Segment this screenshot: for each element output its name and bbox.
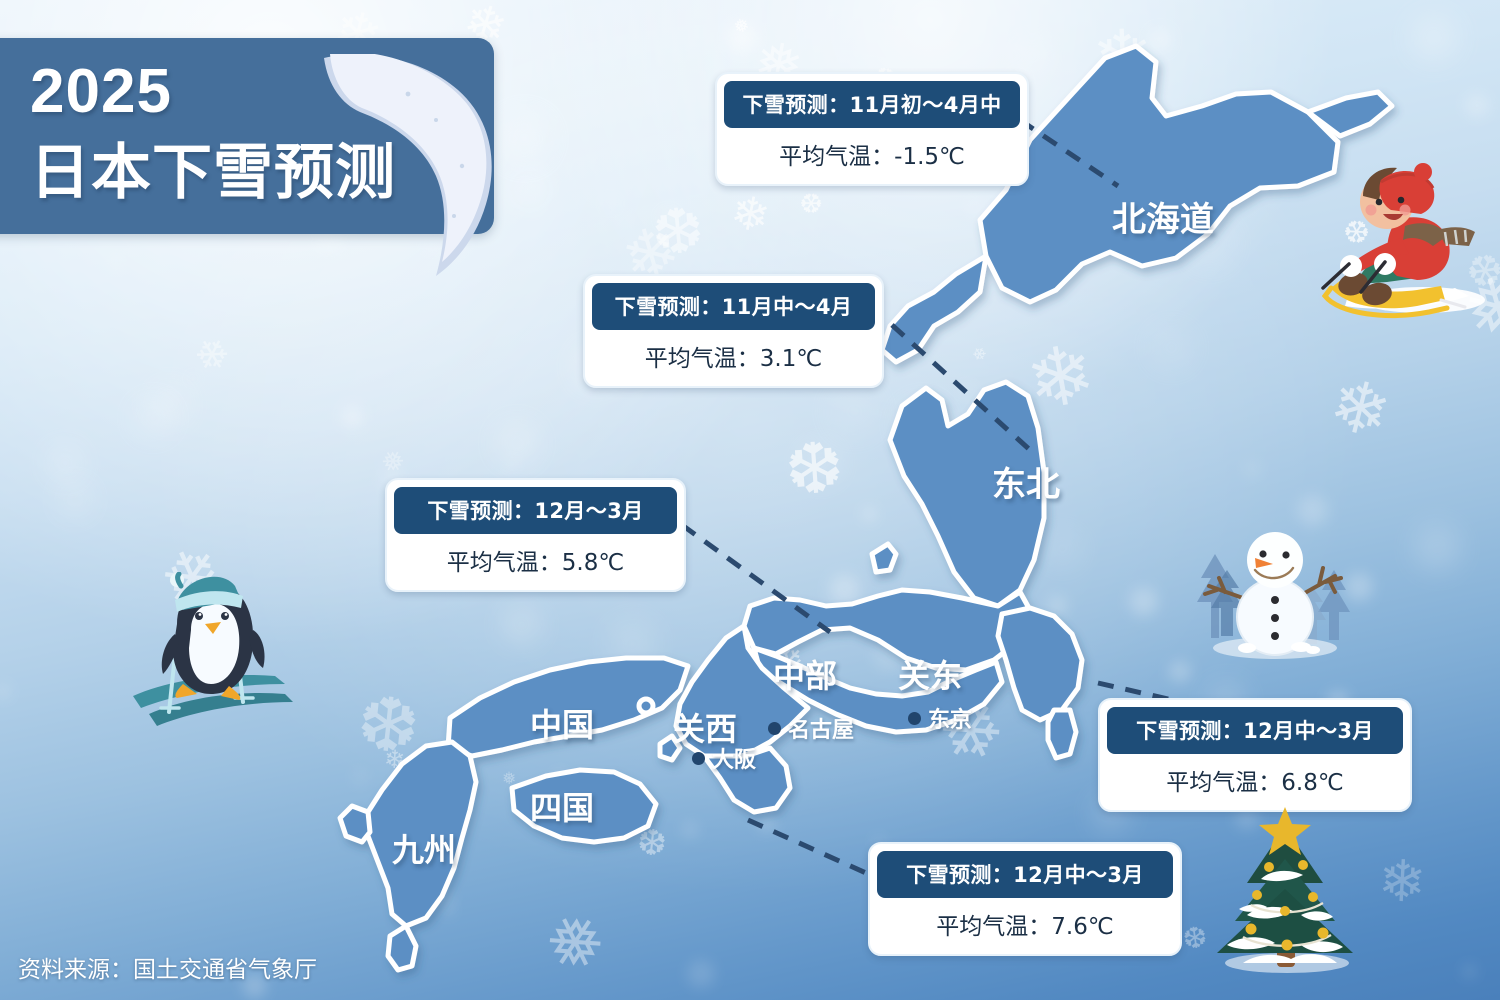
callout-tohoku[interactable]: 下雪预测：11月中～4月 平均气温：3.1℃	[583, 274, 884, 388]
city-osaka: 大阪	[692, 742, 756, 774]
bokeh-dot	[189, 374, 198, 383]
title-banner: 2025 日本下雪预测	[0, 38, 494, 234]
callout-tohoku-temperature: 平均气温：3.1℃	[592, 330, 875, 379]
callout-hokkaido-forecast: 下雪预测：11月初～4月中	[724, 81, 1020, 128]
region-label-tohoku: 东北	[992, 457, 1060, 506]
callout-kansai[interactable]: 下雪预测：12月中～3月 平均气温：7.6℃	[868, 842, 1182, 956]
region-label-kanto: 关东	[898, 651, 962, 697]
callout-hokkaido[interactable]: 下雪预测：11月初～4月中 平均气温：-1.5℃	[715, 72, 1029, 186]
city-label-tokyo: 东京	[928, 702, 972, 734]
bokeh-dot	[132, 397, 174, 439]
skiing-penguin-illustration	[125, 572, 300, 747]
callout-kanto-forecast: 下雪预测：12月中～3月	[1107, 707, 1403, 754]
callout-tohoku-forecast: 下雪预测：11月中～4月	[592, 283, 875, 330]
snowman-illustration	[1185, 520, 1365, 670]
map-region-hokkaido-west	[882, 256, 986, 362]
region-label-hokkaido: 北海道	[1112, 192, 1214, 241]
callout-kanto-temperature: 平均气温：6.8℃	[1107, 754, 1403, 803]
map-kyushu-south	[388, 926, 416, 970]
page-title: 日本下雪预测	[30, 124, 396, 211]
bokeh-dot	[687, 960, 715, 988]
city-tokyo: 东京	[908, 702, 972, 734]
map-island-oki	[639, 699, 653, 713]
map-kyushu-west	[340, 806, 370, 842]
region-label-shikoku: 四国	[530, 783, 594, 829]
city-dot-icon	[908, 712, 921, 725]
city-dot-icon	[692, 752, 705, 765]
callout-kansai-forecast: 下雪预测：12月中～3月	[877, 851, 1173, 898]
source-note: 资料来源：国土交通省气象厅	[18, 950, 317, 984]
city-nagoya: 名古屋	[768, 712, 854, 744]
map-island-sado	[872, 544, 896, 572]
region-label-chubu: 中部	[773, 651, 837, 697]
region-label-chugoku: 中国	[530, 700, 594, 746]
map-region-hokkaido	[980, 46, 1338, 302]
city-label-nagoya: 名古屋	[788, 712, 854, 744]
map-region-kanto	[998, 608, 1082, 720]
callout-hokkaido-temperature: 平均气温：-1.5℃	[724, 128, 1020, 177]
callout-kansai-temperature: 平均气温：7.6℃	[877, 898, 1173, 947]
callout-chubu[interactable]: 下雪预测：12月～3月 平均气温：5.8℃	[385, 478, 686, 592]
connector-kansai	[748, 820, 886, 882]
region-label-kyushu: 九州	[392, 825, 456, 871]
callout-chubu-forecast: 下雪预测：12月～3月	[394, 487, 677, 534]
infographic-root: ❆❆❅❄❆❅❅❄❄❅❄❆❆❆❆❄❅❆❄❄❄❄❄❄❄❄❆❄❆❄❆❆❄❅❅❄❆❆❄❆…	[0, 0, 1500, 1000]
city-label-osaka: 大阪	[712, 742, 756, 774]
callout-kanto[interactable]: 下雪预测：12月中～3月 平均气温：6.8℃	[1098, 698, 1412, 812]
callout-chubu-temperature: 平均气温：5.8℃	[394, 534, 677, 583]
sledding-kid-illustration	[1305, 160, 1490, 325]
city-dot-icon	[768, 722, 781, 735]
christmas-tree-illustration	[1195, 805, 1375, 990]
bokeh-dot	[1465, 94, 1488, 117]
map-kanto-peninsula	[1048, 710, 1076, 758]
bokeh-dot	[1463, 965, 1476, 978]
title-year: 2025	[30, 56, 172, 127]
